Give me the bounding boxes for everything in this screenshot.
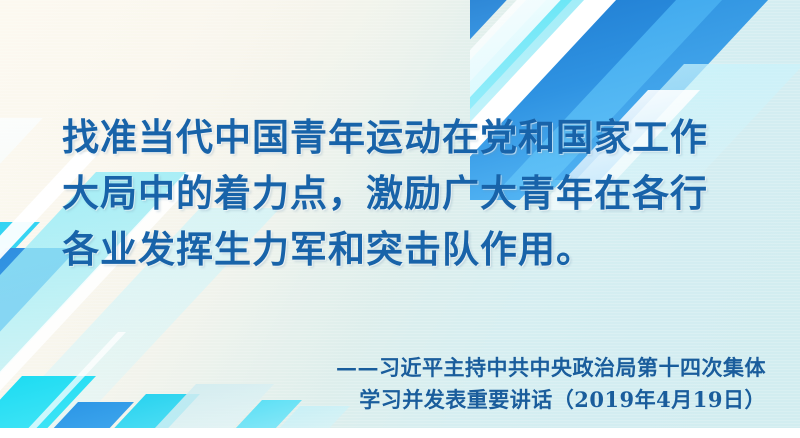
- attribution-line-1: ——习近平主持中共中央政治局第十四次集体: [46, 352, 766, 384]
- poster-canvas: 找准当代中国青年运动在党和国家工作 大局中的着力点，激励广大青年在各行 各业发挥…: [0, 0, 800, 438]
- attribution-line-2: 学习并发表重要讲话（2019年4月19日）: [46, 384, 766, 416]
- headline-line-3: 各业发挥生力军和突击队作用。: [62, 222, 762, 278]
- bottom-white-band: [0, 428, 800, 438]
- decor-stripe-bl-cyan-big: [0, 222, 40, 402]
- decor-stripe-bl-white-1: [0, 118, 42, 428]
- headline-block: 找准当代中国青年运动在党和国家工作 大局中的着力点，激励广大青年在各行 各业发挥…: [62, 110, 762, 278]
- decor-stripe-tr-blue-left-dark: [470, 0, 572, 80]
- attribution-block: ——习近平主持中共中央政治局第十四次集体 学习并发表重要讲话（2019年4月19…: [46, 352, 766, 416]
- decor-stripe-tr-blue-left: [470, 0, 564, 100]
- headline-line-2: 大局中的着力点，激励广大青年在各行: [62, 166, 762, 222]
- headline-line-1: 找准当代中国青年运动在党和国家工作: [62, 110, 762, 166]
